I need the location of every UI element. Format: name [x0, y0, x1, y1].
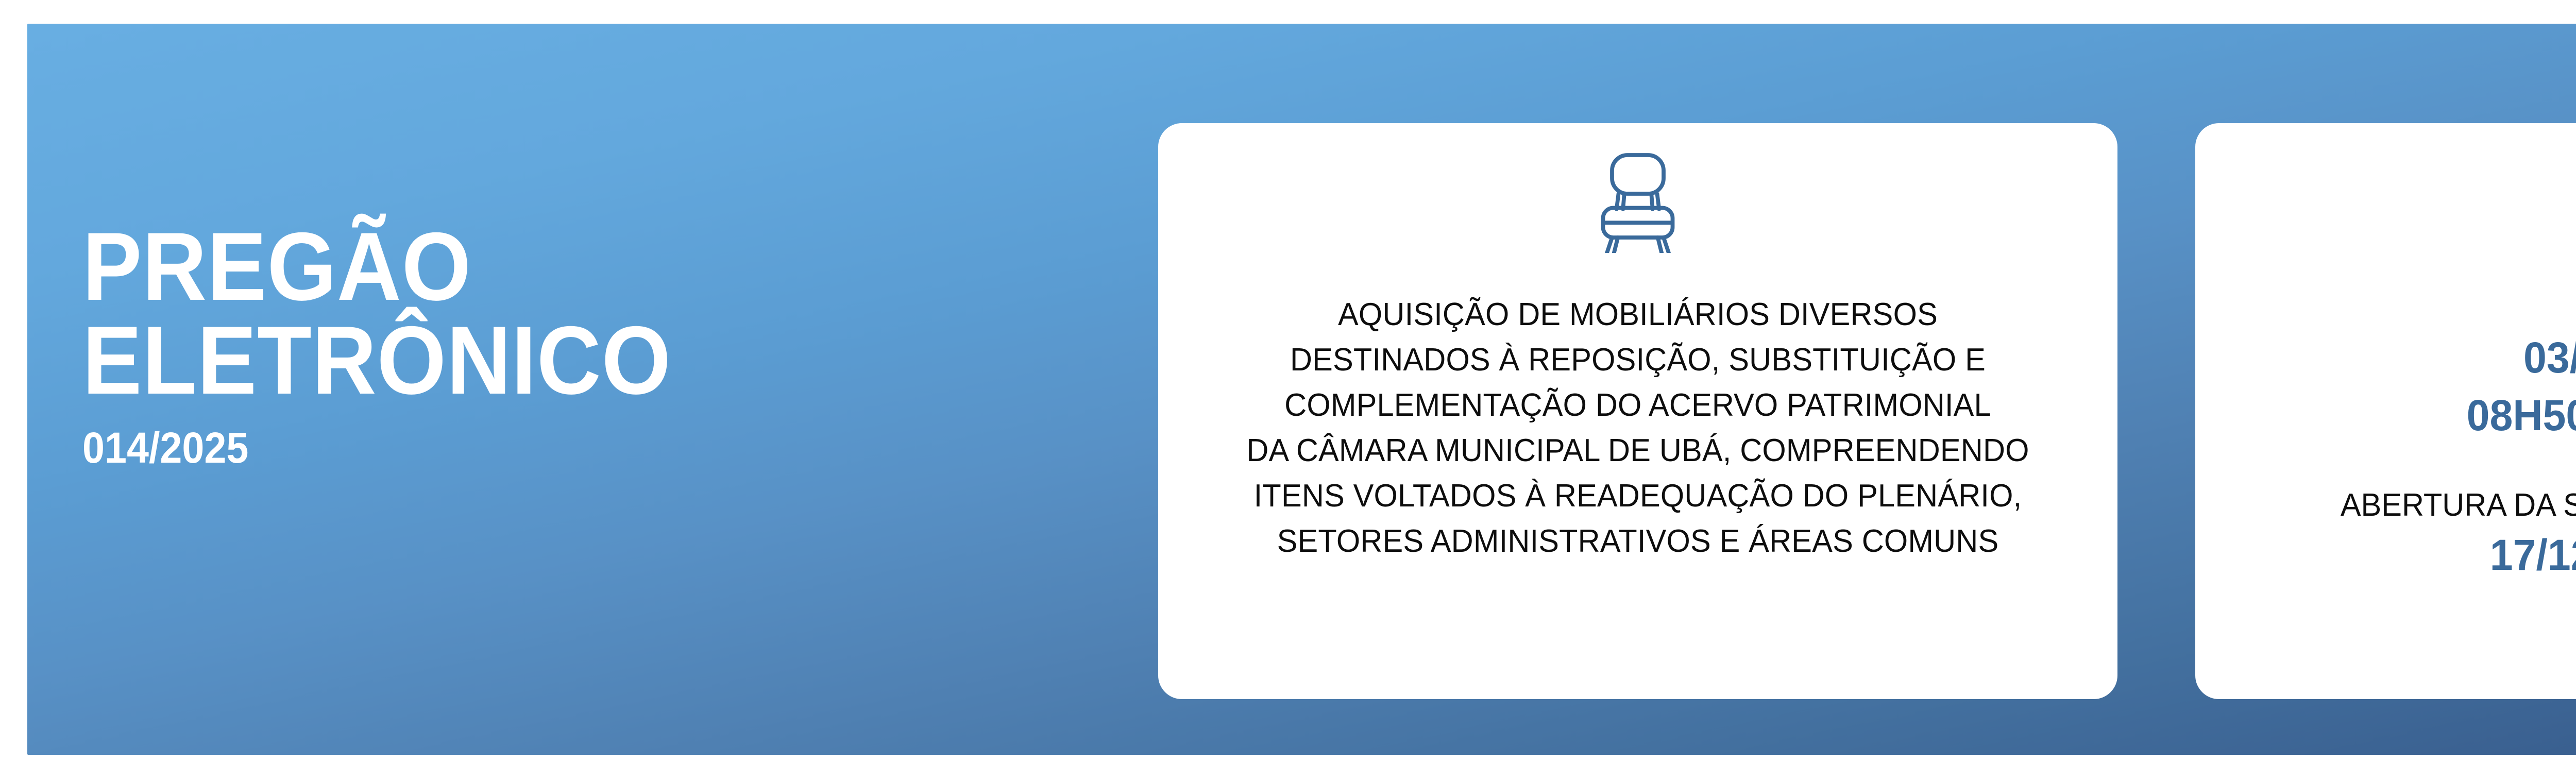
hero-title-line-1: PREGÃO — [82, 219, 1030, 313]
object-line: DA CÂMARA MUNICIPAL DE UBÁ, COMPREENDEND… — [1177, 428, 2098, 473]
banner-panel: PREGÃO ELETRÔNICO 014/2025 AQUISIÇÃO DE … — [27, 24, 2576, 755]
proposals-value-line-1: 03/12/2025 ATÉ — [2523, 329, 2576, 387]
object-line: SETORES ADMINISTRATIVOS E ÁREAS COMUNS — [1177, 519, 2098, 564]
page-title: PREGÃO ELETRÔNICO 014/2025 — [82, 219, 1113, 469]
chair-icon — [1594, 150, 1682, 253]
object-line: DESTINADOS À REPOSIÇÃO, SUBSTITUIÇÃO E — [1177, 337, 2098, 383]
object-description-text: AQUISIÇÃO DE MOBILIÁRIOS DIVERSOS DESTIN… — [1158, 292, 2117, 564]
session-label: ABERTURA DA SESSÃO E ENVIO DE LANCES — [2341, 485, 2576, 527]
object-line: COMPLEMENTAÇÃO DO ACERVO PATRIMONIAL — [1177, 383, 2098, 428]
session-value: 17/12/2025 ÀS 09H — [2490, 526, 2576, 584]
hero-process-number: 014/2025 — [82, 426, 1030, 469]
dates-card: PROPOSTAS 03/12/2025 ATÉ 08H50 DE 17/12/… — [2195, 123, 2576, 699]
object-line: AQUISIÇÃO DE MOBILIÁRIOS DIVERSOS — [1177, 292, 2098, 337]
object-line: ITENS VOLTADOS À READEQUAÇÃO DO PLENÁRIO… — [1177, 473, 2098, 519]
hero-title-line-2: ELETRÔNICO — [82, 313, 1030, 407]
proposals-value-line-2: 08H50 DE 17/12/2025 — [2467, 386, 2576, 445]
object-description-card: AQUISIÇÃO DE MOBILIÁRIOS DIVERSOS DESTIN… — [1158, 123, 2117, 699]
dates-body: PROPOSTAS 03/12/2025 ATÉ 08H50 DE 17/12/… — [2195, 287, 2576, 584]
